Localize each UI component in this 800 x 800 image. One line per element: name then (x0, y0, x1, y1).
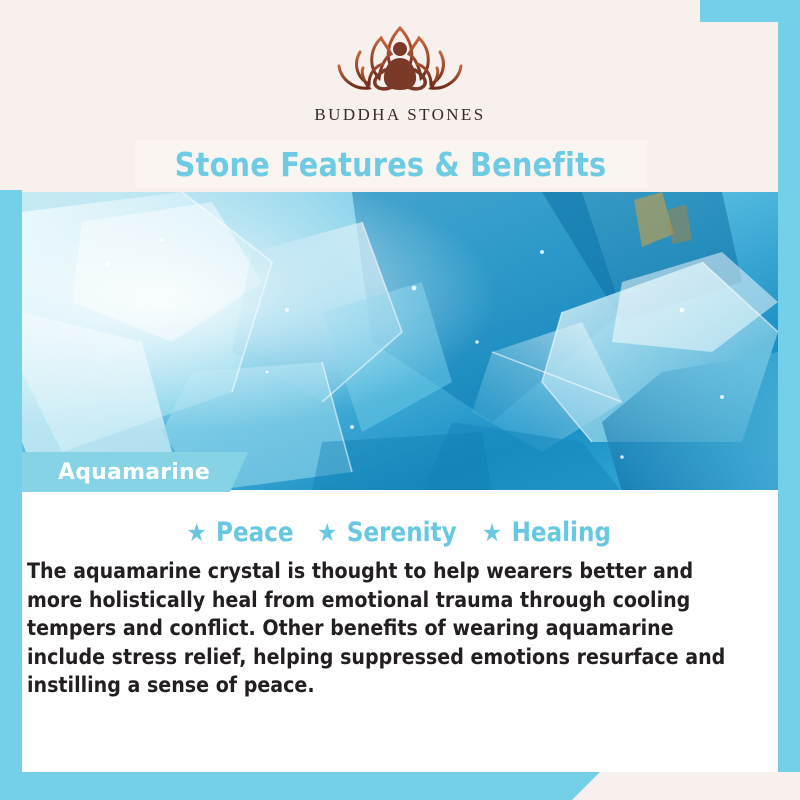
keyword-row: ★ Peace ★ Serenity ★ Healing (22, 512, 778, 552)
frame-accent-left (0, 190, 22, 800)
stone-name-tag: Aquamarine (22, 452, 248, 492)
keyword-item-peace: ★ Peace (186, 517, 295, 548)
frame-accent-bottom (0, 772, 600, 800)
keyword-item-serenity: ★ Serenity (317, 517, 460, 548)
description-text: The aquamarine crystal is thought to hel… (27, 558, 752, 701)
stone-name-label: Aquamarine (58, 460, 210, 485)
aquamarine-crystal-illustration (22, 192, 778, 492)
star-icon: ★ (317, 520, 337, 545)
hero-image (22, 192, 778, 492)
page-title: Stone Features & Benefits (175, 145, 607, 184)
lotus-meditation-figure-icon (325, 18, 475, 103)
star-icon: ★ (186, 520, 206, 545)
keyword-label: Peace (216, 517, 293, 548)
keyword-label: Serenity (347, 517, 457, 548)
poster-canvas: BUDDHA STONES Stone Features & Benefits (0, 0, 800, 800)
keyword-item-healing: ★ Healing (482, 517, 614, 548)
title-banner: Stone Features & Benefits (135, 140, 647, 188)
star-icon: ★ (482, 520, 502, 545)
keyword-label: Healing (512, 517, 611, 548)
brand-logo: BUDDHA STONES (0, 18, 800, 140)
brand-name: BUDDHA STONES (314, 105, 485, 125)
